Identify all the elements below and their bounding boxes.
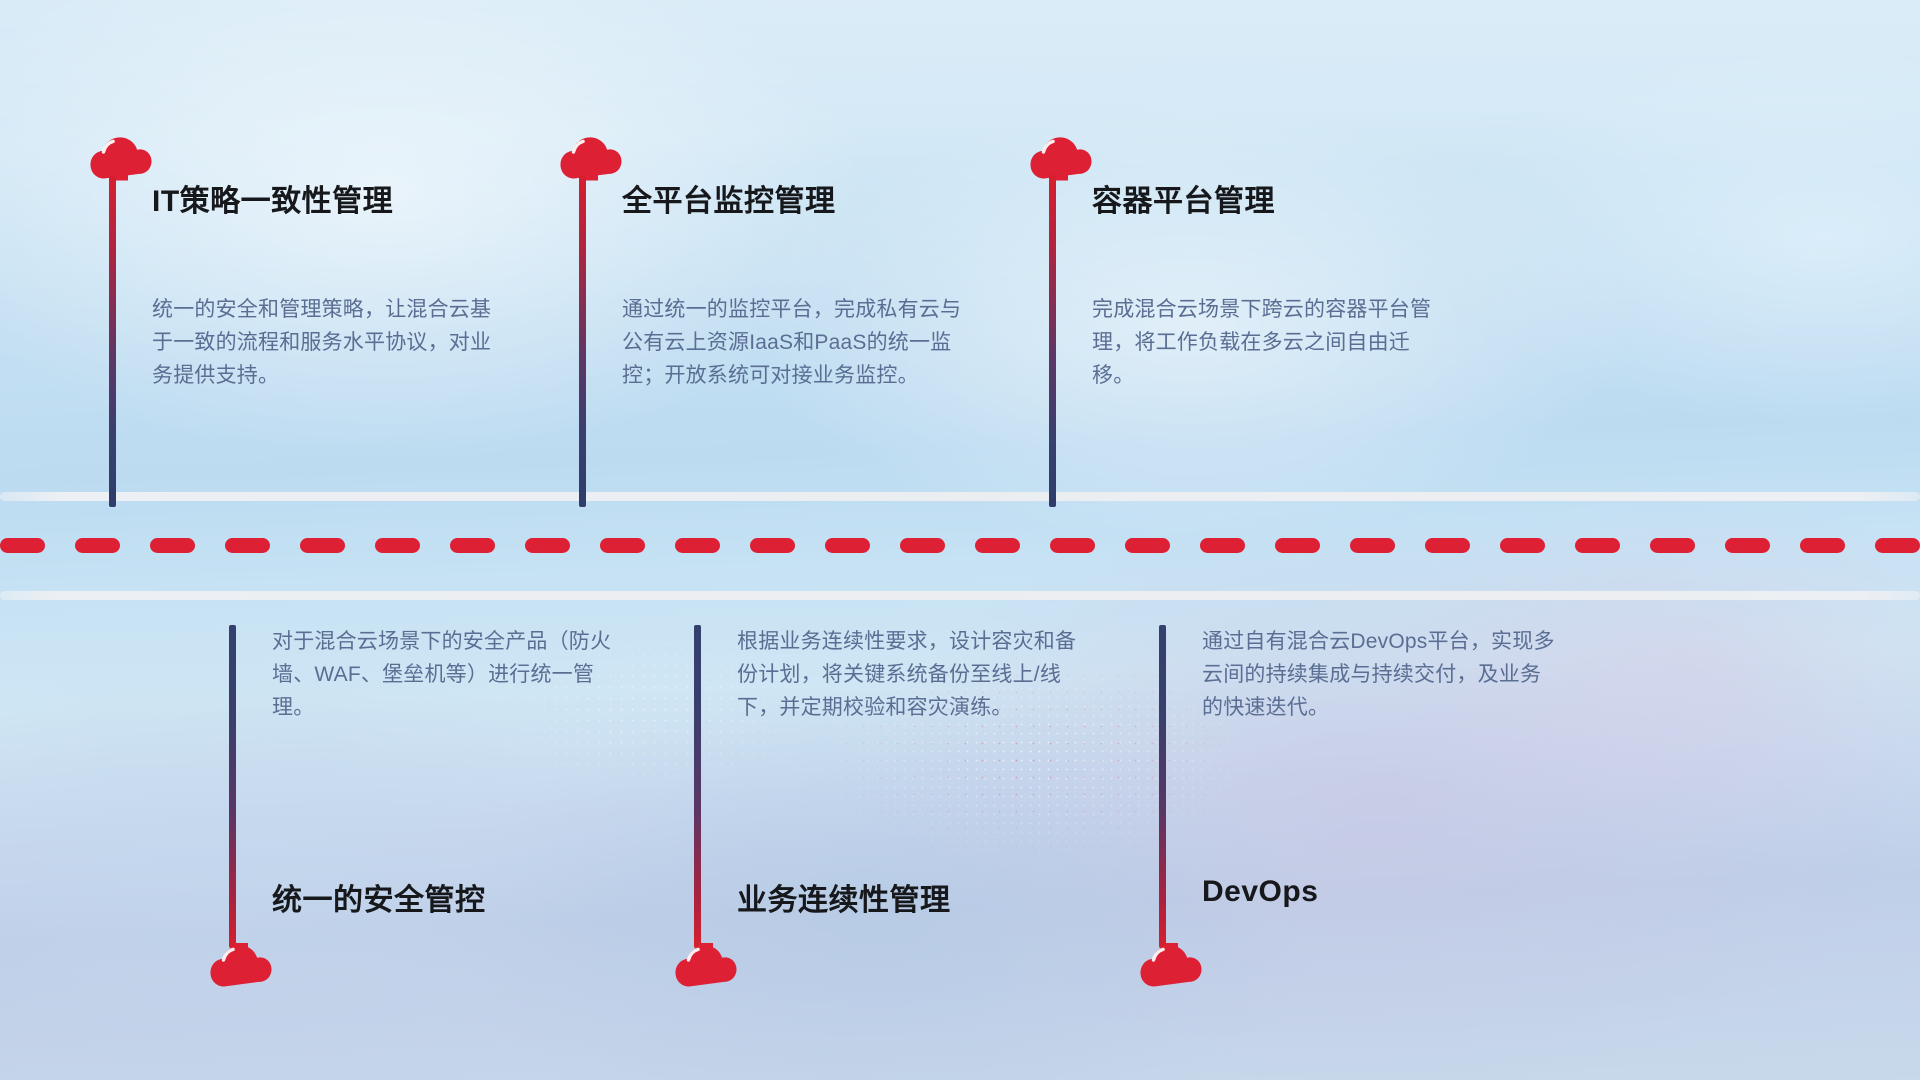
road-edge-bottom-line (0, 591, 1920, 600)
road-dash (900, 538, 945, 553)
cloud-icon (90, 135, 152, 181)
connector-stem (694, 625, 701, 948)
road-dash (1350, 538, 1395, 553)
road-dash (1200, 538, 1245, 553)
road-dash (450, 538, 495, 553)
road-divider (0, 490, 1920, 600)
road-dash (1500, 538, 1545, 553)
cloud-icon (560, 135, 622, 181)
connector-stem (229, 625, 236, 948)
connector-stem (109, 175, 116, 507)
feature-heading: 全平台监控管理 (622, 176, 836, 220)
feature-body-text: 完成混合云场景下跨云的容器平台管理，将工作负载在多云之间自由迁移。 (1092, 293, 1452, 392)
feature-body-text: 根据业务连续性要求，设计容灾和备份计划，将关键系统备份至线上/线下，并定期校验和… (737, 625, 1097, 724)
feature-heading: 统一的安全管控 (272, 875, 486, 919)
connector-stem (579, 175, 586, 507)
feature-body-text: 统一的安全和管理策略，让混合云基于一致的流程和服务水平协议，对业务提供支持。 (152, 293, 512, 392)
feature-heading: 容器平台管理 (1092, 176, 1275, 220)
cloud-icon (210, 943, 272, 989)
road-dash (375, 538, 420, 553)
feature-body-text: 通过统一的监控平台，完成私有云与公有云上资源IaaS和PaaS的统一监控；开放系… (622, 293, 982, 392)
connector-stem (1159, 625, 1166, 948)
feature-body-text: 通过自有混合云DevOps平台，实现多云间的持续集成与持续交付，及业务的快速迭代… (1202, 625, 1562, 724)
road-edge-top-line (0, 492, 1920, 501)
road-dash (1875, 538, 1920, 553)
road-dash (1125, 538, 1170, 553)
road-dash (600, 538, 645, 553)
road-dash (0, 538, 45, 553)
cloud-icon (675, 943, 737, 989)
connector-stem (1049, 175, 1056, 507)
road-dash (75, 538, 120, 553)
road-dash (1425, 538, 1470, 553)
feature-heading: IT策略一致性管理 (152, 176, 393, 220)
road-center-dashes (0, 538, 1920, 553)
road-dash (750, 538, 795, 553)
cloud-icon (1140, 943, 1202, 989)
road-dash (825, 538, 870, 553)
road-dash (525, 538, 570, 553)
road-dash (225, 538, 270, 553)
road-dash (975, 538, 1020, 553)
road-dash (1650, 538, 1695, 553)
feature-body-text: 对于混合云场景下的安全产品（防火墙、WAF、堡垒机等）进行统一管理。 (272, 625, 632, 724)
road-dash (1050, 538, 1095, 553)
road-dash (150, 538, 195, 553)
infographic-canvas: IT策略一致性管理 统一的安全和管理策略，让混合云基于一致的流程和服务水平协议，… (0, 0, 1920, 1080)
road-dash (1575, 538, 1620, 553)
feature-heading: DevOps (1202, 875, 1318, 909)
road-dash (300, 538, 345, 553)
road-dash (1800, 538, 1845, 553)
road-dash (1275, 538, 1320, 553)
road-dash (675, 538, 720, 553)
cloud-icon (1030, 135, 1092, 181)
feature-heading: 业务连续性管理 (737, 875, 951, 919)
road-dash (1725, 538, 1770, 553)
